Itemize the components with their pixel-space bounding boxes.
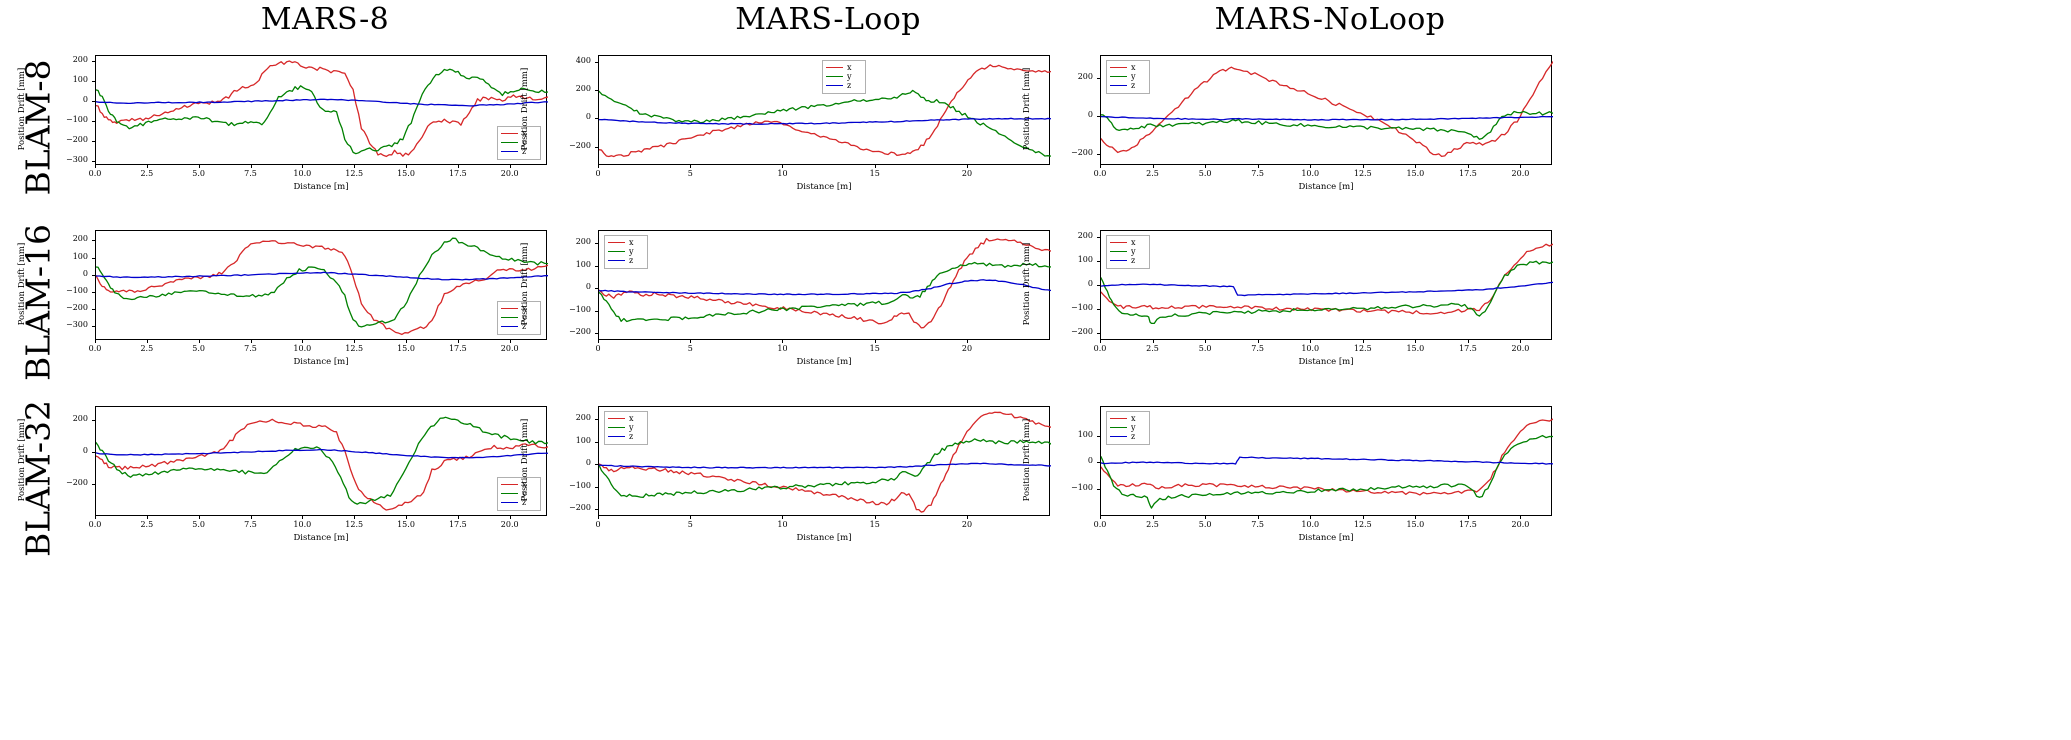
y-tickmark [595, 419, 598, 420]
legend-line-y [608, 251, 625, 252]
x-tick-label: 17.5 [1448, 521, 1488, 529]
x-tick-label: 10.0 [1290, 170, 1330, 178]
x-tick-label: 12.5 [1343, 521, 1383, 529]
series-x [1101, 244, 1553, 314]
legend-label-z: z [1131, 433, 1135, 441]
legend-line-y [1110, 76, 1127, 77]
plot-lines-blam32-marsloop [599, 407, 1051, 517]
legend-entry-y: y [1110, 247, 1146, 256]
axes-blam32-marsloop [598, 406, 1050, 516]
y-tick-label: 0 [1048, 111, 1093, 119]
series-y [1101, 261, 1553, 323]
x-tickmark [251, 516, 252, 519]
x-tick-label: 12.5 [334, 521, 374, 529]
x-axis-label: Distance [m] [261, 182, 381, 192]
x-tick-label: 5.0 [179, 170, 219, 178]
legend-entry-x: x [1110, 414, 1146, 423]
x-axis-label: Distance [m] [261, 533, 381, 543]
y-tickmark [1097, 285, 1100, 286]
x-tickmark [199, 340, 200, 343]
y-tick-label: −100 [1048, 484, 1093, 492]
x-tickmark [1153, 516, 1154, 519]
y-tick-label: −200 [43, 479, 88, 487]
plot-lines-blam32-marsnoloop [1101, 407, 1553, 517]
x-tickmark [1205, 340, 1206, 343]
axes-blam8-marsnoloop [1100, 55, 1552, 165]
legend-label-y: y [1131, 73, 1136, 81]
x-tick-label: 2.5 [1133, 170, 1173, 178]
axes-blam32-marsnoloop [1100, 406, 1552, 516]
x-tick-label: 5.0 [179, 521, 219, 529]
y-tick-label: 0 [1048, 457, 1093, 465]
y-axis-label: Position Drift [mm] [17, 234, 27, 334]
legend-blam32-marsloop[interactable]: xyz [604, 411, 648, 445]
y-tickmark [92, 326, 95, 327]
legend-label-y: y [629, 424, 634, 432]
y-axis-label: Position Drift [mm] [520, 410, 530, 510]
legend-entry-x: x [608, 238, 644, 247]
x-tick-label: 20.0 [1500, 521, 1540, 529]
y-tickmark [92, 420, 95, 421]
x-tick-label: 7.5 [1238, 521, 1278, 529]
y-tick-label: −200 [546, 142, 591, 150]
y-tick-label: 200 [43, 235, 88, 243]
x-tick-label: 5 [670, 345, 710, 353]
x-tick-label: 12.5 [1343, 345, 1383, 353]
plot-lines-blam16-marsloop [599, 231, 1051, 341]
x-axis-label: Distance [m] [764, 357, 884, 367]
series-y [1101, 436, 1553, 509]
x-tickmark [1153, 340, 1154, 343]
x-tick-label: 10.0 [282, 345, 322, 353]
x-tickmark [1520, 340, 1521, 343]
y-axis-label: Position Drift [mm] [1022, 234, 1032, 334]
legend-blam16-mars8[interactable]: xyz [497, 301, 541, 335]
x-tick-label: 7.5 [1238, 345, 1278, 353]
legend-entry-y: y [501, 138, 537, 147]
x-tickmark [147, 340, 148, 343]
x-tickmark [782, 165, 783, 168]
x-tickmark [406, 165, 407, 168]
x-tick-label: 15.0 [386, 170, 426, 178]
legend-blam32-marsnoloop[interactable]: xyz [1106, 411, 1150, 445]
y-tickmark [595, 118, 598, 119]
y-tick-label: 200 [43, 56, 88, 64]
x-tick-label: 15.0 [1395, 345, 1435, 353]
legend-blam8-marsloop[interactable]: xyz [822, 60, 866, 94]
legend-label-z: z [629, 433, 633, 441]
x-tick-label: 17.5 [1448, 345, 1488, 353]
x-tickmark [1310, 340, 1311, 343]
y-tickmark [595, 509, 598, 510]
y-tickmark [595, 147, 598, 148]
legend-line-y [501, 493, 518, 494]
y-tickmark [1097, 462, 1100, 463]
x-tickmark [1258, 165, 1259, 168]
y-tick-label: 200 [546, 414, 591, 422]
legend-line-x [1110, 242, 1127, 243]
legend-line-z [1110, 85, 1127, 86]
x-tickmark [1415, 340, 1416, 343]
x-tick-label: 10.0 [1290, 521, 1330, 529]
legend-label-y: y [847, 73, 852, 81]
legend-entry-x: x [501, 129, 537, 138]
plot-lines-blam32-mars8 [96, 407, 548, 517]
x-tick-label: 20.0 [1500, 170, 1540, 178]
y-tick-label: 400 [546, 57, 591, 65]
figure-grid: MARS-8MARS-LoopMARS-NoLoopBLAM-8BLAM-16B… [0, 0, 2071, 740]
legend-line-z [608, 260, 625, 261]
x-tick-label: 5.0 [1185, 521, 1225, 529]
y-tickmark [92, 161, 95, 162]
y-tick-label: 100 [43, 253, 88, 261]
x-tick-label: 15 [855, 170, 895, 178]
legend-label-x: x [629, 415, 634, 423]
legend-entry-y: y [608, 247, 644, 256]
y-tickmark [1097, 489, 1100, 490]
legend-entry-z: z [501, 147, 537, 156]
x-tickmark [1363, 516, 1364, 519]
x-tick-label: 12.5 [334, 345, 374, 353]
x-tick-label: 12.5 [1343, 170, 1383, 178]
column-title-3: MARS-NoLoop [1130, 2, 1530, 37]
series-z [96, 272, 548, 280]
y-tick-label: 200 [1048, 73, 1093, 81]
x-tickmark [302, 340, 303, 343]
legend-line-x [1110, 67, 1127, 68]
x-tick-label: 0.0 [75, 170, 115, 178]
y-tickmark [1097, 116, 1100, 117]
x-tickmark [510, 516, 511, 519]
legend-line-y [1110, 427, 1127, 428]
x-tick-label: 5.0 [1185, 170, 1225, 178]
y-tickmark [92, 452, 95, 453]
y-tickmark [595, 333, 598, 334]
plot-lines-blam16-mars8 [96, 231, 548, 341]
x-tickmark [1205, 165, 1206, 168]
x-tickmark [510, 165, 511, 168]
x-tick-label: 5 [670, 170, 710, 178]
legend-entry-y: y [1110, 423, 1146, 432]
x-tick-label: 15.0 [386, 345, 426, 353]
x-tick-label: 2.5 [1133, 521, 1173, 529]
x-tick-label: 7.5 [231, 170, 271, 178]
y-axis-label: Position Drift [mm] [520, 234, 530, 334]
x-tickmark [95, 340, 96, 343]
x-axis-label: Distance [m] [1266, 533, 1386, 543]
x-tickmark [1100, 340, 1101, 343]
legend-line-z [826, 85, 843, 86]
x-tickmark [1310, 165, 1311, 168]
x-tickmark [598, 165, 599, 168]
axes-blam16-marsloop [598, 230, 1050, 340]
y-tickmark [92, 61, 95, 62]
column-title-2: MARS-Loop [628, 2, 1028, 37]
x-tickmark [967, 165, 968, 168]
x-tick-label: 12.5 [334, 170, 374, 178]
legend-line-x [608, 418, 625, 419]
y-tickmark [595, 266, 598, 267]
y-tick-label: −200 [1048, 149, 1093, 157]
legend-label-x: x [1131, 415, 1136, 423]
y-tick-label: 200 [43, 415, 88, 423]
y-axis-label: Position Drift [mm] [520, 59, 530, 159]
legend-line-x [1110, 418, 1127, 419]
legend-entry-z: z [1110, 432, 1146, 441]
legend-line-y [826, 76, 843, 77]
x-tickmark [598, 516, 599, 519]
x-tick-label: 15 [855, 345, 895, 353]
legend-label-y: y [1131, 248, 1136, 256]
x-tickmark [1153, 165, 1154, 168]
y-tickmark [1097, 309, 1100, 310]
x-tick-label: 20 [947, 521, 987, 529]
x-tickmark [875, 516, 876, 519]
legend-line-x [826, 67, 843, 68]
x-tickmark [1520, 165, 1521, 168]
y-tick-label: 0 [546, 113, 591, 121]
series-z [1101, 457, 1553, 464]
x-tickmark [1468, 340, 1469, 343]
x-tickmark [458, 340, 459, 343]
x-tick-label: 0.0 [1080, 345, 1120, 353]
x-tick-label: 20.0 [490, 521, 530, 529]
legend-line-y [501, 317, 518, 318]
y-tick-label: 100 [1048, 256, 1093, 264]
legend-label-x: x [1131, 239, 1136, 247]
x-tickmark [251, 165, 252, 168]
x-tick-label: 20 [947, 170, 987, 178]
legend-entry-x: x [826, 63, 862, 72]
x-tick-label: 0 [578, 345, 618, 353]
legend-entry-x: x [1110, 63, 1146, 72]
y-tickmark [595, 243, 598, 244]
legend-entry-y: y [501, 313, 537, 322]
x-tickmark [406, 340, 407, 343]
y-tick-label: −200 [546, 504, 591, 512]
series-y [96, 238, 548, 327]
series-z [599, 280, 1051, 295]
x-tickmark [199, 165, 200, 168]
x-tick-label: 0.0 [75, 521, 115, 529]
x-tickmark [967, 340, 968, 343]
x-tickmark [199, 516, 200, 519]
x-tickmark [354, 165, 355, 168]
legend-entry-x: x [608, 414, 644, 423]
legend-label-y: y [1131, 424, 1136, 432]
x-axis-label: Distance [m] [764, 182, 884, 192]
y-tick-label: 100 [546, 437, 591, 445]
x-tick-label: 5 [670, 521, 710, 529]
legend-line-y [608, 427, 625, 428]
x-tickmark [690, 516, 691, 519]
x-tickmark [1363, 340, 1364, 343]
legend-entry-z: z [501, 322, 537, 331]
legend-entry-z: z [826, 81, 862, 90]
column-title-1: MARS-8 [125, 2, 525, 37]
x-tickmark [690, 340, 691, 343]
series-y [96, 69, 548, 153]
x-tickmark [251, 340, 252, 343]
x-tickmark [147, 165, 148, 168]
legend-entry-y: y [826, 72, 862, 81]
legend-line-y [1110, 251, 1127, 252]
x-tick-label: 10.0 [1290, 345, 1330, 353]
y-tick-label: −200 [1048, 328, 1093, 336]
legend-label-x: x [1131, 64, 1136, 72]
x-tick-label: 15 [855, 521, 895, 529]
axes-blam32-mars8 [95, 406, 547, 516]
y-tickmark [1097, 154, 1100, 155]
x-tick-label: 5.0 [1185, 345, 1225, 353]
y-tick-label: 200 [546, 85, 591, 93]
y-tickmark [1097, 78, 1100, 79]
legend-blam8-marsnoloop[interactable]: xyz [1106, 60, 1150, 94]
series-x [96, 241, 548, 335]
y-tick-label: −200 [43, 304, 88, 312]
x-tickmark [147, 516, 148, 519]
legend-entry-y: y [1110, 72, 1146, 81]
legend-blam32-mars8[interactable]: xyz [497, 477, 541, 511]
x-tick-label: 2.5 [127, 521, 167, 529]
x-tick-label: 15.0 [1395, 170, 1435, 178]
x-tick-label: 10 [762, 170, 802, 178]
y-tick-label: 100 [1048, 431, 1093, 439]
x-tickmark [302, 165, 303, 168]
legend-line-z [1110, 260, 1127, 261]
y-tickmark [595, 288, 598, 289]
series-y [1101, 111, 1553, 139]
axes-blam16-marsnoloop [1100, 230, 1552, 340]
legend-label-z: z [847, 82, 851, 90]
y-tick-label: −100 [43, 116, 88, 124]
plot-lines-blam8-mars8 [96, 56, 548, 166]
x-tickmark [1310, 516, 1311, 519]
x-tick-label: 5.0 [179, 345, 219, 353]
x-tick-label: 17.5 [438, 345, 478, 353]
y-tick-label: −100 [43, 287, 88, 295]
legend-entry-y: y [501, 489, 537, 498]
legend-entry-z: z [608, 256, 644, 265]
x-tickmark [1258, 516, 1259, 519]
x-tickmark [1415, 165, 1416, 168]
x-tickmark [354, 340, 355, 343]
x-tickmark [302, 516, 303, 519]
x-tick-label: 7.5 [231, 345, 271, 353]
y-axis-label: Position Drift [mm] [17, 59, 27, 159]
legend-line-z [501, 502, 518, 503]
legend-line-z [501, 151, 518, 152]
x-tickmark [1100, 516, 1101, 519]
x-tickmark [690, 165, 691, 168]
y-tickmark [595, 442, 598, 443]
x-tick-label: 17.5 [1448, 170, 1488, 178]
y-tickmark [595, 90, 598, 91]
x-tickmark [1363, 165, 1364, 168]
x-tick-label: 0.0 [75, 345, 115, 353]
x-tickmark [458, 165, 459, 168]
y-tickmark [1097, 261, 1100, 262]
x-tickmark [1205, 516, 1206, 519]
legend-entry-y: y [608, 423, 644, 432]
series-z [599, 463, 1051, 468]
x-tick-label: 7.5 [1238, 170, 1278, 178]
series-x [599, 239, 1051, 328]
x-tickmark [510, 340, 511, 343]
legend-line-z [1110, 436, 1127, 437]
y-tickmark [92, 81, 95, 82]
series-x [96, 419, 548, 510]
x-axis-label: Distance [m] [1266, 357, 1386, 367]
series-z [1101, 282, 1553, 295]
legend-line-z [501, 326, 518, 327]
x-tick-label: 15.0 [1395, 521, 1435, 529]
legend-label-x: x [847, 64, 852, 72]
y-tick-label: −300 [43, 321, 88, 329]
y-tick-label: 200 [1048, 232, 1093, 240]
y-tickmark [92, 258, 95, 259]
axes-blam16-mars8 [95, 230, 547, 340]
legend-blam16-marsloop[interactable]: xyz [604, 235, 648, 269]
legend-label-x: x [629, 239, 634, 247]
y-tick-label: 0 [546, 459, 591, 467]
y-tickmark [92, 292, 95, 293]
x-axis-label: Distance [m] [1266, 182, 1386, 192]
y-tick-label: −100 [546, 306, 591, 314]
y-tick-label: −300 [43, 156, 88, 164]
x-tick-label: 20.0 [490, 170, 530, 178]
x-tickmark [875, 165, 876, 168]
series-y [96, 417, 548, 504]
x-tick-label: 10.0 [282, 170, 322, 178]
x-axis-label: Distance [m] [261, 357, 381, 367]
x-tick-label: 15.0 [386, 521, 426, 529]
y-tickmark [1097, 237, 1100, 238]
y-tickmark [1097, 436, 1100, 437]
x-tick-label: 2.5 [1133, 345, 1173, 353]
y-tickmark [92, 275, 95, 276]
x-tick-label: 0.0 [1080, 170, 1120, 178]
y-tick-label: 0 [43, 270, 88, 278]
x-tickmark [1468, 165, 1469, 168]
legend-blam8-mars8[interactable]: xyz [497, 126, 541, 160]
x-tickmark [967, 516, 968, 519]
x-tick-label: 20 [947, 345, 987, 353]
legend-entry-z: z [1110, 256, 1146, 265]
x-tick-label: 0.0 [1080, 521, 1120, 529]
legend-label-z: z [629, 257, 633, 265]
legend-line-z [608, 436, 625, 437]
x-tickmark [95, 165, 96, 168]
x-tickmark [406, 516, 407, 519]
legend-blam16-marsnoloop[interactable]: xyz [1106, 235, 1150, 269]
legend-line-x [501, 308, 518, 309]
x-tick-label: 20.0 [1500, 345, 1540, 353]
legend-line-x [501, 133, 518, 134]
x-tickmark [782, 340, 783, 343]
x-tick-label: 10.0 [282, 521, 322, 529]
x-tickmark [354, 516, 355, 519]
y-axis-label: Position Drift [mm] [1022, 59, 1032, 159]
x-axis-label: Distance [m] [764, 533, 884, 543]
legend-entry-z: z [1110, 81, 1146, 90]
x-tickmark [458, 516, 459, 519]
legend-entry-z: z [608, 432, 644, 441]
plot-lines-blam16-marsnoloop [1101, 231, 1553, 341]
y-tick-label: −200 [43, 136, 88, 144]
y-tickmark [595, 311, 598, 312]
legend-line-x [501, 484, 518, 485]
